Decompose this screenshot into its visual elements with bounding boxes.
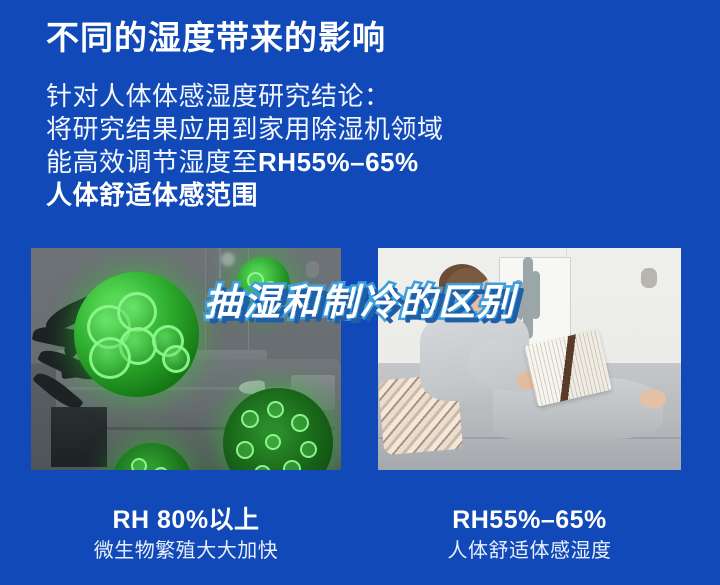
plant-pot <box>51 407 107 467</box>
body-line-3: 能高效调节湿度至RH55%–65% <box>46 146 444 179</box>
page-title: 不同的湿度带来的影响 <box>46 18 386 58</box>
caption-left-title: RH 80%以上 <box>31 505 341 535</box>
caption-left: RH 80%以上 微生物繁殖大大加快 <box>31 505 341 564</box>
overlay-banner-text: 抽湿和制冷的区别 <box>0 272 720 326</box>
woman-foot <box>640 390 666 408</box>
poster-root: 不同的湿度带来的影响 针对人体体感湿度研究结论： 将研究结果应用到家用除湿机领域… <box>0 0 720 585</box>
caption-right: RH55%–65% 人体舒适体感湿度 <box>378 505 681 564</box>
body-line-2: 将研究结果应用到家用除湿机领域 <box>46 113 444 146</box>
body-paragraph: 针对人体体感湿度研究结论： 将研究结果应用到家用除湿机领域 能高效调节湿度至RH… <box>46 80 444 212</box>
caption-left-subtitle: 微生物繁殖大大加快 <box>31 538 341 564</box>
body-line-3-plain: 能高效调节湿度至 <box>46 147 258 177</box>
body-line-1: 针对人体体感湿度研究结论： <box>46 80 444 113</box>
body-line-3-highlight: RH55%–65% <box>258 147 419 177</box>
caption-right-title: RH55%–65% <box>378 505 681 535</box>
body-line-4: 人体舒适体感范围 <box>46 179 444 212</box>
caption-right-subtitle: 人体舒适体感湿度 <box>378 538 681 564</box>
